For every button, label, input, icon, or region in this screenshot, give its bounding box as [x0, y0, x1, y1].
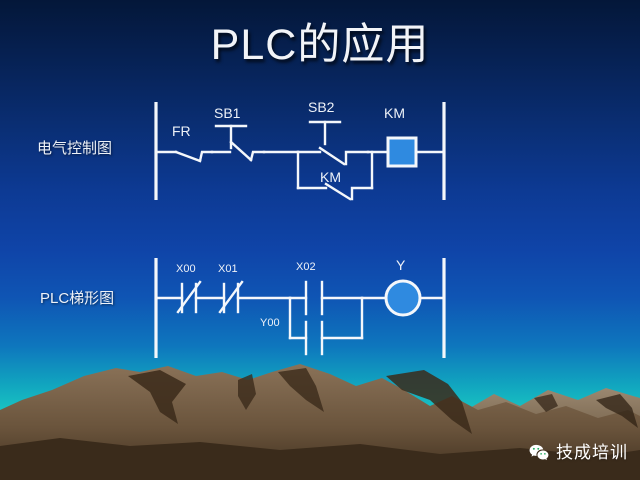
watermark-text: 技成培训 [556, 443, 628, 463]
sb2-contact-terminal [346, 152, 368, 164]
sb1-contact-terminal [251, 152, 264, 160]
sb1-contact-blade [231, 142, 251, 160]
fr-contact-terminal [200, 152, 212, 161]
fr-contact-blade [176, 152, 200, 161]
km-coil-square [388, 138, 416, 166]
device-label-x01: X01 [218, 263, 238, 275]
sb2-contact-blade [320, 148, 344, 164]
slide-canvas: PLC的应用 电气控制图 PLC梯形图 FR SB1 SB2 KM [0, 0, 640, 480]
km-holding-blade [326, 184, 350, 199]
wechat-icon [528, 442, 550, 464]
row-label-control-diagram: 电气控制图 [37, 140, 112, 158]
device-label-x02: X02 [296, 261, 316, 273]
electrical-control-diagram: FR SB1 SB2 KM KM [140, 96, 460, 206]
device-label-y: Y [396, 257, 406, 273]
device-label-y00: Y00 [260, 317, 280, 329]
device-label-km-coil: KM [384, 105, 405, 121]
y-output-coil-circle [386, 281, 420, 315]
row-label-ladder-diagram: PLC梯形图 [40, 290, 114, 308]
device-label-x00: X00 [176, 263, 196, 275]
page-title: PLC的应用 [0, 18, 640, 72]
plc-ladder-diagram: X00 X01 X02 Y00 Y [140, 250, 460, 365]
device-label-sb1: SB1 [214, 105, 241, 121]
device-label-km-holding: KM [320, 169, 341, 185]
device-label-sb2: SB2 [308, 99, 335, 115]
watermark: 技成培训 [528, 442, 628, 464]
device-label-fr: FR [172, 123, 191, 139]
km-holding-terminal [352, 188, 372, 199]
